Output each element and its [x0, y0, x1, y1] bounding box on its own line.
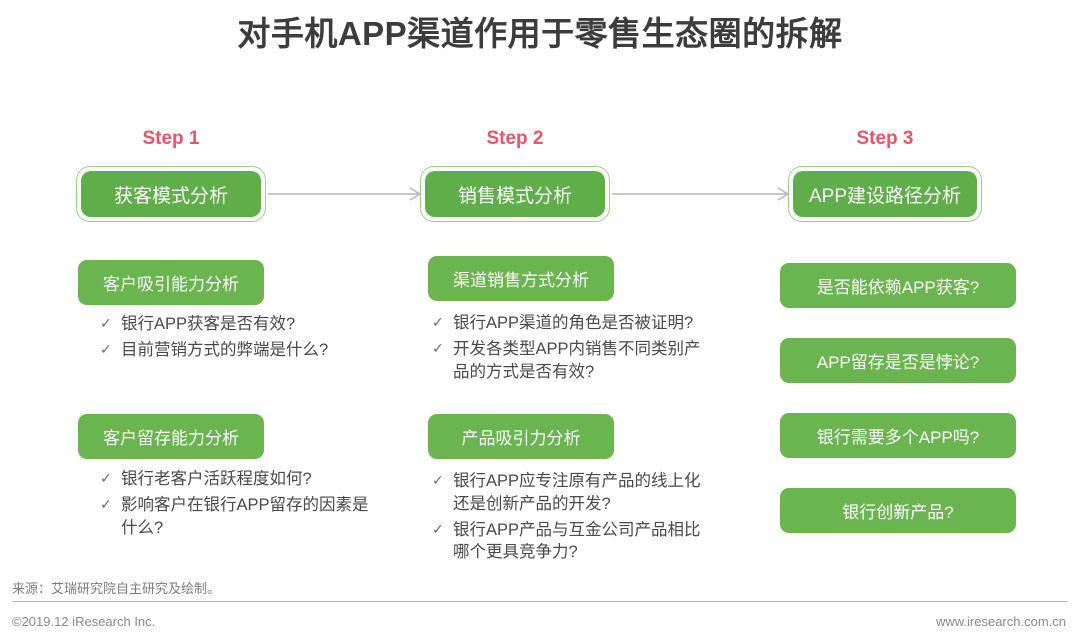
list-item: ✓ 银行老客户活跃程度如何?: [100, 468, 380, 491]
pill-customer-attraction[interactable]: 客户吸引能力分析: [78, 260, 264, 305]
website-text: www.iresearch.com.cn: [936, 614, 1066, 629]
step-box-1[interactable]: 获客模式分析: [76, 166, 266, 222]
step-box-3[interactable]: APP建设路径分析: [788, 166, 982, 222]
list-item-text: 银行APP应专注原有产品的线上化还是创新产品的开发?: [453, 470, 710, 516]
list-item: ✓ 目前营销方式的弊端是什么?: [100, 339, 380, 362]
check-icon: ✓: [100, 313, 121, 335]
step-box-3-label: APP建设路径分析: [793, 171, 977, 217]
checklist-customer-retention: ✓ 银行老客户活跃程度如何? ✓ 影响客户在银行APP留存的因素是什么?: [100, 468, 380, 542]
step-label-1: Step 1: [76, 128, 266, 150]
pill-question-innovative-products[interactable]: 银行创新产品?: [780, 488, 1016, 533]
arrow-step1-to-step2-icon: [268, 184, 422, 204]
step-box-2[interactable]: 销售模式分析: [420, 166, 610, 222]
list-item: ✓ 银行APP获客是否有效?: [100, 313, 380, 336]
check-icon: ✓: [432, 312, 453, 334]
step-box-1-label: 获客模式分析: [81, 171, 261, 217]
step-label-3: Step 3: [788, 128, 982, 150]
pill-question-app-retention[interactable]: APP留存是否是悖论?: [780, 338, 1016, 383]
list-item: ✓ 影响客户在银行APP留存的因素是什么?: [100, 494, 380, 540]
step-box-2-label: 销售模式分析: [425, 171, 605, 217]
list-item: ✓ 开发各类型APP内销售不同类别产品的方式是否有效?: [432, 338, 704, 384]
list-item-text: 银行老客户活跃程度如何?: [121, 468, 380, 491]
check-icon: ✓: [100, 494, 121, 516]
footer-divider: [12, 601, 1068, 602]
copyright-text: ©2019.12 iResearch Inc.: [12, 614, 155, 629]
pill-channel-sales-method[interactable]: 渠道销售方式分析: [428, 256, 614, 301]
check-icon: ✓: [100, 468, 121, 490]
checklist-product-attraction: ✓ 银行APP应专注原有产品的线上化还是创新产品的开发? ✓ 银行APP产品与互…: [432, 470, 710, 567]
pill-customer-retention[interactable]: 客户留存能力分析: [78, 414, 264, 459]
list-item-text: 银行APP产品与互金公司产品相比哪个更具竞争力?: [453, 519, 710, 565]
list-item-text: 影响客户在银行APP留存的因素是什么?: [121, 494, 380, 540]
pill-question-app-acquisition[interactable]: 是否能依赖APP获客?: [780, 263, 1016, 308]
pill-product-attraction[interactable]: 产品吸引力分析: [428, 414, 614, 459]
page-title: 对手机APP渠道作用于零售生态圈的拆解: [0, 14, 1080, 54]
checklist-channel-sales-method: ✓ 银行APP渠道的角色是否被证明? ✓ 开发各类型APP内销售不同类别产品的方…: [432, 312, 704, 386]
check-icon: ✓: [432, 519, 453, 541]
pill-question-multiple-apps[interactable]: 银行需要多个APP吗?: [780, 413, 1016, 458]
check-icon: ✓: [100, 339, 121, 361]
arrow-step2-to-step3-icon: [612, 184, 790, 204]
source-note: 来源：艾瑞研究院自主研究及绘制。: [12, 578, 220, 597]
check-icon: ✓: [432, 470, 453, 492]
check-icon: ✓: [432, 338, 453, 360]
list-item-text: 开发各类型APP内销售不同类别产品的方式是否有效?: [453, 338, 704, 384]
list-item-text: 银行APP渠道的角色是否被证明?: [453, 312, 704, 335]
list-item-text: 银行APP获客是否有效?: [121, 313, 380, 336]
list-item: ✓ 银行APP应专注原有产品的线上化还是创新产品的开发?: [432, 470, 710, 516]
list-item: ✓ 银行APP渠道的角色是否被证明?: [432, 312, 704, 335]
list-item-text: 目前营销方式的弊端是什么?: [121, 339, 380, 362]
list-item: ✓ 银行APP产品与互金公司产品相比哪个更具竞争力?: [432, 519, 710, 565]
checklist-customer-attraction: ✓ 银行APP获客是否有效? ✓ 目前营销方式的弊端是什么?: [100, 313, 380, 365]
step-label-2: Step 2: [420, 128, 610, 150]
